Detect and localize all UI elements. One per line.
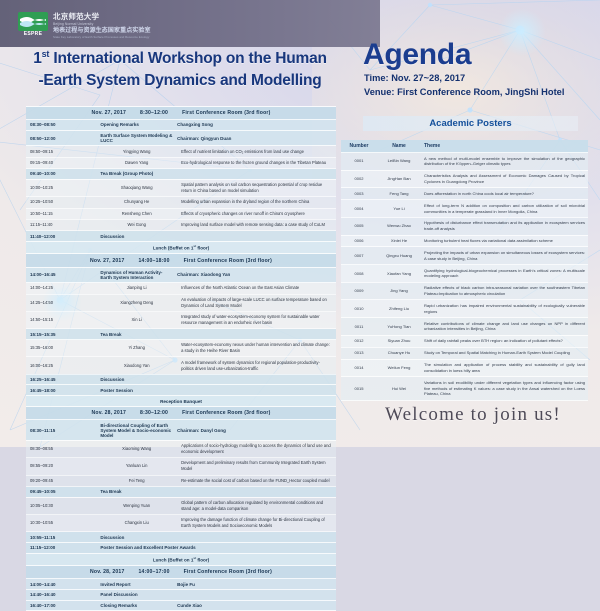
event-meta: Time: Nov. 27~28, 2017 Venue: First Conf… xyxy=(364,72,564,100)
agenda-session-chair: Bojie Fu xyxy=(177,579,336,590)
poster-author: Xinlei He xyxy=(377,235,421,247)
agenda-break-label: Discussion xyxy=(96,532,336,543)
poster-author: LeiBin Wang xyxy=(377,153,421,171)
poster-col-number: Number xyxy=(341,140,377,153)
welcome-message: Welcome to join us! xyxy=(353,404,593,426)
agenda-talk-time: 11:15–11:40 xyxy=(26,219,96,230)
agenda-session-chair: Chairman: Qingyun Duan xyxy=(177,130,336,146)
agenda-talk-speaker: Jianping Li xyxy=(96,283,177,294)
agenda-talk-speaker: Xiangzheng Deng xyxy=(96,294,177,311)
agenda-break-label: Poster Session xyxy=(96,385,336,396)
agenda-talk-row: 15:35–16:00Yi ZhangWater-ecosystem-econo… xyxy=(26,340,336,357)
agenda-talk-time: 15:35–16:00 xyxy=(26,340,96,357)
poster-author: Jing Yang xyxy=(377,282,421,300)
agenda-talk-topic: Modelling urban expansion in the dryland… xyxy=(177,197,336,208)
agenda-break-row: 15:15–15:35Tea Break xyxy=(26,329,336,340)
poster-author: Xiaofan Yang xyxy=(377,265,421,283)
poster-number: 0007 xyxy=(341,247,377,265)
poster-author: Hui Wei xyxy=(377,377,421,400)
espre-logo-icon: ESPRE xyxy=(18,12,48,38)
agenda-talk-row: 14:50–15:15Xin LiIntegrated study of wat… xyxy=(26,312,336,329)
agenda-talk-row: 16:00–16:25Xiaodong YanA model framework… xyxy=(26,357,336,374)
agenda-talk-row: 08:55–09:20Yanluan LinDevelopment and pr… xyxy=(26,458,336,475)
university-logo: ESPRE 北京师范大学 Beijing Normal University 地… xyxy=(18,12,151,39)
agenda-talk-topic: Global pattern of carbon allocation regu… xyxy=(177,497,336,514)
agenda-break-row: 09:40–10:00Tea Break (Group Photo) xyxy=(26,169,336,180)
poster-theme: Effect of long-term N addition on compos… xyxy=(421,200,588,218)
poster-theme: Characteristics Analysis and Assessment … xyxy=(421,170,588,188)
agenda-talk-topic: Integrated study of water-ecosystem-econ… xyxy=(177,312,336,329)
agenda-centered-row: Lunch (Buffet on 1st floor) xyxy=(26,241,336,254)
agenda-break-row: 11:15–12:00Poster Session and Excellent … xyxy=(26,543,336,554)
agenda-session-chair: Changxing Song xyxy=(177,120,336,131)
agenda-talk-speaker: Xin Li xyxy=(96,312,177,329)
agenda-break-time: 09:40–10:00 xyxy=(26,169,96,180)
poster-row: 0006Xinlei HeMonitoring turbulent heat f… xyxy=(341,235,588,247)
agenda-day-header: Nov. 27, 201714:00–18:00First Conference… xyxy=(26,254,336,267)
poster-number: 0005 xyxy=(341,217,377,235)
agenda-break-label: Tea Break (Group Photo) xyxy=(96,169,336,180)
agenda-talk-row: 08:50–09:15Yingying WangEffect of nutrie… xyxy=(26,146,336,157)
poster-number: 0001 xyxy=(341,153,377,171)
poster-theme: Variations in soil erodibility under dif… xyxy=(421,377,588,400)
poster-number: 0002 xyxy=(341,170,377,188)
poster-row: 0011YuHong TianRelative contributions of… xyxy=(341,318,588,336)
poster-theme: The simulation and application of proces… xyxy=(421,359,588,377)
poster-author: Qingxu Huang xyxy=(377,247,421,265)
poster-theme: Rapid urbanization has impaired environm… xyxy=(421,300,588,318)
agenda-talk-speaker: Chunyang He xyxy=(96,197,177,208)
academic-posters-heading: Academic Posters xyxy=(363,116,578,131)
agenda-session-time: 14:40–16:40 xyxy=(26,589,96,600)
poster-number: 0009 xyxy=(341,282,377,300)
agenda-day-header-text: Nov. 27, 201714:00–18:00First Conference… xyxy=(26,254,336,267)
poster-author: Wenwu Zhao xyxy=(377,217,421,235)
agenda-day-room: First Conference Room (3rd floor) xyxy=(182,110,270,116)
agenda-centered-label: Lunch (Buffet on 1st floor) xyxy=(26,553,336,566)
agenda-break-label: Discussion xyxy=(96,231,336,242)
agenda-session-time: 14:00–14:40 xyxy=(26,579,96,590)
agenda-talk-topic: Improving land surface model with remote… xyxy=(177,219,336,230)
poster-row: 0001LeiBin WangA new method of multi-mod… xyxy=(341,153,588,171)
agenda-talk-row: 14:00–14:25Jianping LiInfluences of the … xyxy=(26,283,336,294)
agenda-session-title: Dynamics of Human Activity-Earth System … xyxy=(96,267,177,283)
agenda-day-header-text: Nov. 28, 201714:00–17:00First Conference… xyxy=(26,566,336,579)
poster-theme: Quantifying hydrological-biogeochemical … xyxy=(421,265,588,283)
agenda-talk-speaker: Shaoqiang Wang xyxy=(96,179,177,196)
poster-author: Siyuan Zhou xyxy=(377,335,421,347)
poster-row: 0002JingHan BanCharacteristics Analysis … xyxy=(341,170,588,188)
poster-number: 0003 xyxy=(341,188,377,200)
event-venue: Venue: First Conference Room, JingShi Ho… xyxy=(364,86,564,100)
agenda-break-row: 09:45–10:05Tea Break xyxy=(26,487,336,498)
poster-author: Weilun Feng xyxy=(377,359,421,377)
poster-table-header-row: Number Name Theme xyxy=(341,140,588,153)
agenda-session-chair: Chairman: Xiaodong Yan xyxy=(177,267,336,283)
agenda-day-header-text: Nov. 28, 20178:30–12:00First Conference … xyxy=(26,407,336,420)
agenda-day-header: Nov. 28, 201714:00–17:00First Conference… xyxy=(26,566,336,579)
agenda-talk-row: 10:50–11:15Rensheng ChenEffects of cryos… xyxy=(26,208,336,219)
poster-number: 0011 xyxy=(341,318,377,336)
agenda-talk-topic: Effect of nutrient limitation on CO₂ emi… xyxy=(177,146,336,157)
agenda-break-time: 16:45–18:00 xyxy=(26,385,96,396)
poster-row: 0004Yue LiEffect of long-term N addition… xyxy=(341,200,588,218)
agenda-talk-row: 14:25–14:50Xiangzheng DengAn evaluation … xyxy=(26,294,336,311)
agenda-session-row: 14:00–16:45Dynamics of Human Activity-Ea… xyxy=(26,267,336,283)
poster-row: 0010Zhifeng LiuRapid urbanization has im… xyxy=(341,300,588,318)
agenda-session-row: 16:40–17:00Closing RemarksCunde Xiao xyxy=(26,600,336,611)
agenda-break-time: 11:40–12:00 xyxy=(26,231,96,242)
agenda-day-header: Nov. 27, 20178:30–12:00First Conference … xyxy=(26,107,336,120)
agenda-break-time: 10:55–11:15 xyxy=(26,532,96,543)
agenda-talk-time: 08:30–08:55 xyxy=(26,440,96,457)
agenda-session-time: 08:30–11:15 xyxy=(26,420,96,441)
academic-posters-table: Number Name Theme 0001LeiBin WangA new m… xyxy=(341,140,588,401)
poster-author: Yue Li xyxy=(377,200,421,218)
agenda-session-chair xyxy=(177,589,336,600)
poster-author: JingHan Ban xyxy=(377,170,421,188)
poster-col-name: Name xyxy=(377,140,421,153)
poster-number: 0008 xyxy=(341,265,377,283)
poster-row: 0015Hui WeiVariations in soil erodibilit… xyxy=(341,377,588,400)
poster-row: 0007Qingxu HuangProjecting the impacts o… xyxy=(341,247,588,265)
agenda-talk-topic: An evaluation of impacts of large-scale … xyxy=(177,294,336,311)
event-time: Time: Nov. 27~28, 2017 xyxy=(364,72,564,86)
agenda-break-row: 10:55–11:15Discussion xyxy=(26,532,336,543)
poster-number: 0006 xyxy=(341,235,377,247)
agenda-break-label: Poster Session and Excellent Poster Awar… xyxy=(96,543,336,554)
poster-row: 0012Siyuan ZhouShift of daily rainfall p… xyxy=(341,335,588,347)
agenda-talk-topic: Influences of the North Atlantic Ocean o… xyxy=(177,283,336,294)
poster-author: YuHong Tian xyxy=(377,318,421,336)
agenda-talk-time: 14:25–14:50 xyxy=(26,294,96,311)
agenda-talk-time: 10:05–10:30 xyxy=(26,497,96,514)
poster-row: 0008Xiaofan YangQuantifying hydrological… xyxy=(341,265,588,283)
agenda-talk-time: 10:50–11:15 xyxy=(26,208,96,219)
workshop-title: 1st International Workshop on the Human … xyxy=(0,48,360,92)
agenda-day-room: First Conference Room (3rd floor) xyxy=(182,410,270,416)
agenda-session-row: 14:40–16:40Panel Discussion xyxy=(26,589,336,600)
poster-theme: Hypothesis of disturbance effect transmu… xyxy=(421,217,588,235)
title-line-2: -Earth System Dynamics and Modelling xyxy=(0,70,360,92)
poster-author: Feng Tang xyxy=(377,188,421,200)
agenda-talk-topic: Applications of socio-hydrology modellin… xyxy=(177,440,336,457)
agenda-talk-speaker: Yanluan Lin xyxy=(96,458,177,475)
agenda-talk-row: 08:30–08:55Xiaoming WangApplications of … xyxy=(26,440,336,457)
agenda-talk-speaker: Wei Gong xyxy=(96,219,177,230)
agenda-talk-topic: Improving the damage function of climate… xyxy=(177,515,336,532)
poster-theme: Does afforestation in north China cools … xyxy=(421,188,588,200)
agenda-talk-topic: Water-ecosystem-economy nexus under huma… xyxy=(177,340,336,357)
agenda-day-room: First Conference Room (3rd floor) xyxy=(184,258,272,264)
agenda-break-time: 11:15–12:00 xyxy=(26,543,96,554)
poster-theme: Shift of daily rainfall peaks over BTH r… xyxy=(421,335,588,347)
agenda-session-title: Panel Discussion xyxy=(96,589,177,600)
agenda-talk-speaker: Fei Teng xyxy=(96,475,177,486)
agenda-talk-topic: Re-estimate the social cost of carbon ba… xyxy=(177,475,336,486)
agenda-talk-speaker: Xiaoming Wang xyxy=(96,440,177,457)
agenda-day-date: Nov. 28, 2017 xyxy=(92,410,127,416)
agenda-talk-time: 08:55–09:20 xyxy=(26,458,96,475)
agenda-break-time: 16:25–16:45 xyxy=(26,374,96,385)
agenda-talk-topic: Effects of cryospheric changes on river … xyxy=(177,208,336,219)
agenda-session-row: 08:30–08:50Opening RemarksChangxing Song xyxy=(26,120,336,131)
agenda-session-row: 08:50–12:00Earth Surface System Modeling… xyxy=(26,130,336,146)
agenda-talk-time: 08:50–09:15 xyxy=(26,146,96,157)
agenda-session-time: 08:50–12:00 xyxy=(26,130,96,146)
agenda-break-label: Tea Break xyxy=(96,487,336,498)
lab-name-en: State Key Laboratory of Earth Surface Pr… xyxy=(53,35,151,39)
agenda-talk-row: 10:30–10:55Changxin LiuImproving the dam… xyxy=(26,515,336,532)
agenda-talk-time: 10:30–10:55 xyxy=(26,515,96,532)
agenda-talk-speaker: Yi Zhang xyxy=(96,340,177,357)
agenda-centered-row: Lunch (Buffet on 1st floor) xyxy=(26,553,336,566)
poster-number: 0004 xyxy=(341,200,377,218)
agenda-talk-row: 09:15–09:40Dawen YangEco-hydrological re… xyxy=(26,157,336,168)
agenda-session-chair: Chairman: Danyl Gong xyxy=(177,420,336,441)
agenda-session-time: 08:30–08:50 xyxy=(26,120,96,131)
agenda-day-time: 8:30–12:00 xyxy=(140,110,168,116)
title-line-1: 1st International Workshop on the Human xyxy=(33,50,327,67)
poster-row: 0014Weilun FengThe simulation and applic… xyxy=(341,359,588,377)
agenda-talk-row: 10:05–10:30Wenping YuanGlobal pattern of… xyxy=(26,497,336,514)
poster-number: 0013 xyxy=(341,347,377,359)
agenda-centered-row: Reception Banquet xyxy=(26,396,336,407)
poster-row: 0009Jing YangRadiative effects of black … xyxy=(341,282,588,300)
poster-row: 0003Feng TangDoes afforestation in north… xyxy=(341,188,588,200)
agenda-talk-topic: Development and preliminary results from… xyxy=(177,458,336,475)
agenda-session-title: Closing Remarks xyxy=(96,600,177,611)
agenda-talk-speaker: Wenping Yuan xyxy=(96,497,177,514)
agenda-break-row: 16:25–16:45Discussion xyxy=(26,374,336,385)
poster-theme: Relative contributions of climate change… xyxy=(421,318,588,336)
agenda-talk-speaker: Xiaodong Yan xyxy=(96,357,177,374)
agenda-day-header: Nov. 28, 20178:30–12:00First Conference … xyxy=(26,407,336,420)
poster-row: 0005Wenwu ZhaoHypothesis of disturbance … xyxy=(341,217,588,235)
agenda-break-label: Tea Break xyxy=(96,329,336,340)
agenda-talk-speaker: Rensheng Chen xyxy=(96,208,177,219)
agenda-talk-row: 09:20–09:45Fei TengRe-estimate the socia… xyxy=(26,475,336,486)
poster-number: 0015 xyxy=(341,377,377,400)
university-name-en: Beijing Normal University xyxy=(53,22,151,26)
poster-row: 0013Chuanye HuStudy on Temporal and Spat… xyxy=(341,347,588,359)
agenda-table: Nov. 27, 20178:30–12:00First Conference … xyxy=(26,106,336,611)
agenda-talk-time: 10:25–10:50 xyxy=(26,197,96,208)
agenda-talk-speaker: Yingying Wang xyxy=(96,146,177,157)
agenda-day-date: Nov. 27, 2017 xyxy=(92,110,127,116)
agenda-talk-time: 14:00–14:25 xyxy=(26,283,96,294)
agenda-session-row: 08:30–11:15Bi-directional Coupling of Ea… xyxy=(26,420,336,441)
agenda-session-title: Earth Surface System Modeling & LUCC xyxy=(96,130,177,146)
poster-author: Zhifeng Liu xyxy=(377,300,421,318)
agenda-talk-time: 16:00–16:25 xyxy=(26,357,96,374)
agenda-centered-label: Reception Banquet xyxy=(26,396,336,407)
agenda-talk-topic: Eco-hydrological response to the frozen … xyxy=(177,157,336,168)
agenda-talk-time: 09:20–09:45 xyxy=(26,475,96,486)
agenda-session-chair: Cunde Xiao xyxy=(177,600,336,611)
espre-logo-text: ESPRE xyxy=(18,31,48,37)
agenda-talk-time: 09:15–09:40 xyxy=(26,157,96,168)
poster-number: 0014 xyxy=(341,359,377,377)
agenda-centered-label: Lunch (Buffet on 1st floor) xyxy=(26,241,336,254)
poster-theme: Radiative effects of black carbon intra-… xyxy=(421,282,588,300)
agenda-talk-speaker: Dawen Yang xyxy=(96,157,177,168)
wave-icon xyxy=(20,16,46,27)
poster-theme: A new method of multi-model ensemble to … xyxy=(421,153,588,171)
agenda-talk-topic: A model framework of system dynamics for… xyxy=(177,357,336,374)
agenda-talk-row: 11:15–11:40Wei GongImproving land surfac… xyxy=(26,219,336,230)
agenda-day-time: 14:00–18:00 xyxy=(139,258,170,264)
poster-number: 0010 xyxy=(341,300,377,318)
agenda-day-room: First Conference Room (3rd floor) xyxy=(184,569,272,575)
agenda-session-row: 14:00–14:40Invited ReportBojie Fu xyxy=(26,579,336,590)
poster-theme: Projecting the impacts of urban expansio… xyxy=(421,247,588,265)
agenda-session-title: Bi-directional Coupling of Earth System … xyxy=(96,420,177,441)
agenda-session-time: 14:00–16:45 xyxy=(26,267,96,283)
agenda-talk-topic: Spatial pattern analysis on soil carbon … xyxy=(177,179,336,196)
poster-col-theme: Theme xyxy=(421,140,588,153)
agenda-session-time: 16:40–17:00 xyxy=(26,600,96,611)
agenda-break-time: 15:15–15:35 xyxy=(26,329,96,340)
agenda-break-row: 16:45–18:00Poster Session xyxy=(26,385,336,396)
agenda-session-title: Invited Report xyxy=(96,579,177,590)
poster-theme: Monitoring turbulent heat fluxes via var… xyxy=(421,235,588,247)
lab-name-cn: 地表过程与资源生态国家重点实验室 xyxy=(53,28,151,35)
agenda-day-time: 8:30–12:00 xyxy=(140,410,168,416)
agenda-talk-speaker: Changxin Liu xyxy=(96,515,177,532)
agenda-break-label: Discussion xyxy=(96,374,336,385)
agenda-heading: Agenda xyxy=(363,38,471,72)
university-name-cn: 北京师范大学 xyxy=(53,13,151,22)
agenda-day-time: 14:00–17:00 xyxy=(139,569,170,575)
agenda-day-header-text: Nov. 27, 20178:30–12:00First Conference … xyxy=(26,107,336,120)
agenda-day-date: Nov. 27, 2017 xyxy=(90,258,125,264)
agenda-talk-time: 14:50–15:15 xyxy=(26,312,96,329)
agenda-talk-row: 10:25–10:50Chunyang HeModelling urban ex… xyxy=(26,197,336,208)
agenda-session-title: Opening Remarks xyxy=(96,120,177,131)
agenda-break-time: 09:45–10:05 xyxy=(26,487,96,498)
agenda-talk-time: 10:00–10:25 xyxy=(26,179,96,196)
agenda-break-row: 11:40–12:00Discussion xyxy=(26,231,336,242)
poster-theme: Study on Temporal and Spatial Matching i… xyxy=(421,347,588,359)
agenda-talk-row: 10:00–10:25Shaoqiang WangSpatial pattern… xyxy=(26,179,336,196)
poster-author: Chuanye Hu xyxy=(377,347,421,359)
poster-number: 0012 xyxy=(341,335,377,347)
agenda-day-date: Nov. 28, 2017 xyxy=(90,569,125,575)
